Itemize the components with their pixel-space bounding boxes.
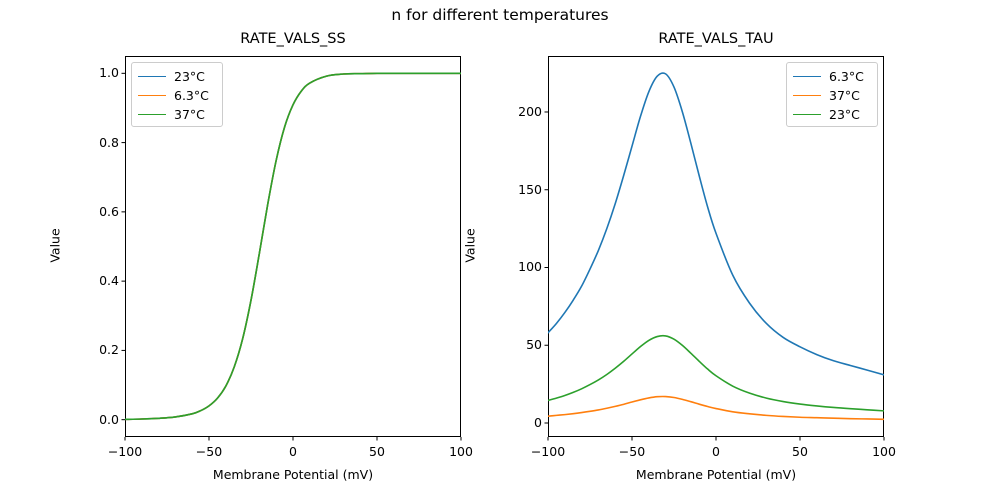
legend-color-swatch: [793, 95, 821, 96]
legend-item: 37°C: [793, 86, 870, 105]
x-tick-label: −50: [592, 444, 672, 459]
legend-label: 23°C: [829, 107, 860, 122]
y-tick-label: 0: [462, 415, 542, 430]
legend-right: 6.3°C37°C23°C: [786, 62, 878, 127]
x-axis-label-right: Membrane Potential (mV): [548, 467, 884, 482]
y-tick-label: 50: [462, 337, 542, 352]
x-tick-label: −100: [508, 444, 588, 459]
legend-color-swatch: [793, 76, 821, 77]
legend-label: 37°C: [829, 88, 860, 103]
x-tick-label: 50: [760, 444, 840, 459]
y-axis-label-right: Value: [463, 165, 478, 325]
y-tick-label: 200: [462, 104, 542, 119]
legend-item: 23°C: [793, 105, 870, 124]
x-tick-label: 0: [676, 444, 756, 459]
legend-label: 6.3°C: [829, 69, 864, 84]
legend-item: 6.3°C: [793, 67, 870, 86]
legend-color-swatch: [793, 114, 821, 115]
matplotlib-figure: n for different temperatures RATE_VALS_S…: [0, 0, 1000, 500]
x-tick-label: 100: [844, 444, 924, 459]
